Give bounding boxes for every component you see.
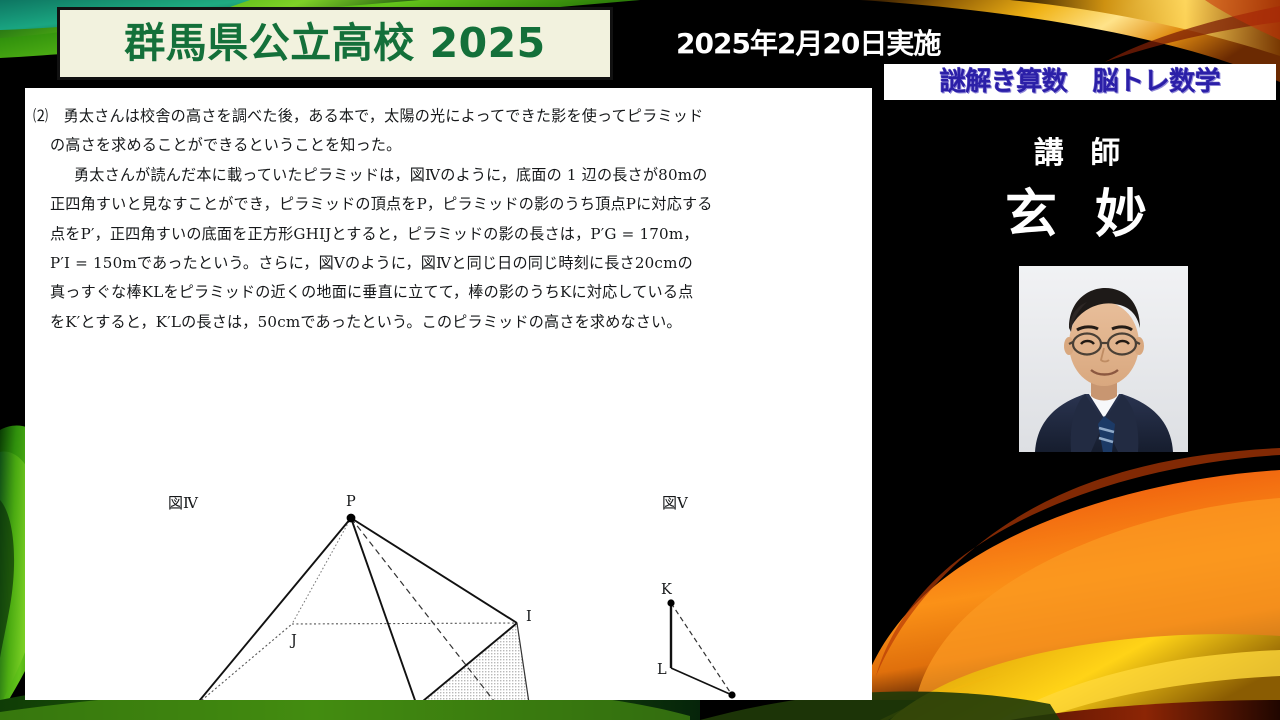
instructor-role-label: 講 師: [986, 128, 1176, 172]
instructor-portrait-photo: [1019, 266, 1188, 452]
problem-line-7: 真っすぐな棒KLをピラミッドの近くの地面に垂直に立てて，棒の影のうちKに対応して…: [33, 278, 854, 307]
exam-title-text: 群馬県公立高校 2025: [124, 23, 545, 64]
problem-line-3: 勇太さんが読んだ本に載っていたピラミッドは，図Ⅳのように，底面の 1 辺の長さが…: [33, 161, 854, 190]
vertex-Kprime: [728, 691, 735, 698]
label-K: K: [661, 582, 673, 598]
label-I: I: [526, 609, 532, 625]
instructor-name-label: 玄 妙: [986, 172, 1176, 247]
label-P: P: [346, 494, 356, 510]
problem-text-block: ⑵ 勇太さんは校舎の高さを調べた後，ある本で，太陽の光によってできた影を使ってピ…: [25, 88, 872, 337]
problem-line-6: P′I = 150mであったという。さらに，図Ⅴのように，図Ⅳと同じ日の同じ時刻…: [33, 249, 854, 278]
problem-line-4: 正四角すいと見なすことができ，ピラミッドの頂点をP，ピラミッドの影のうち頂点Pに…: [33, 190, 854, 219]
edge-P-I-solid: [351, 518, 517, 623]
problem-line-8: をK′とすると，K′Lの長さは，50cmであったという。このピラミッドの高さを求…: [33, 308, 854, 337]
channel-name-banner: 謎解き算数 脳トレ数学: [884, 64, 1276, 100]
edge-P-H: [351, 518, 417, 700]
problem-line-1: ⑵ 勇太さんは校舎の高さを調べた後，ある本で，太陽の光によってできた影を使ってピ…: [33, 102, 854, 131]
shadow-region: [195, 623, 537, 700]
edge-J-I-hidden: [292, 623, 517, 624]
problem-line-5: 点をP′，正四角すいの底面を正方形GHIJとすると，ピラミッドの影の長さは，P′…: [33, 220, 854, 249]
figure-5-caption: 図Ⅴ: [662, 492, 688, 513]
slide-stage: 群馬県公立高校 2025 2025年2月20日実施 謎解き算数 脳トレ数学 講 …: [0, 0, 1280, 720]
exam-date-label: 2025年2月20日実施: [676, 22, 940, 62]
vertex-K: [667, 599, 674, 606]
label-J: J: [289, 633, 297, 649]
figure-5-rod-diagram: K L K′: [625, 558, 825, 700]
portrait-illustration: [1019, 266, 1188, 452]
edge-P-G: [195, 518, 351, 700]
exam-title-banner: 群馬県公立高校 2025: [57, 7, 613, 80]
channel-name-text: 謎解き算数 脳トレ数学: [940, 69, 1221, 95]
figure-4-pyramid-diagram: P I J G H P′: [155, 488, 585, 700]
label-L: L: [657, 662, 667, 678]
problem-line-2: の高さを求めることができるということを知った。: [33, 131, 854, 160]
edge-P-J-hidden: [292, 518, 351, 624]
vertex-P: [347, 514, 356, 523]
exam-document-panel: ⑵ 勇太さんは校舎の高さを調べた後，ある本で，太陽の光によってできた影を使ってピ…: [25, 88, 872, 700]
